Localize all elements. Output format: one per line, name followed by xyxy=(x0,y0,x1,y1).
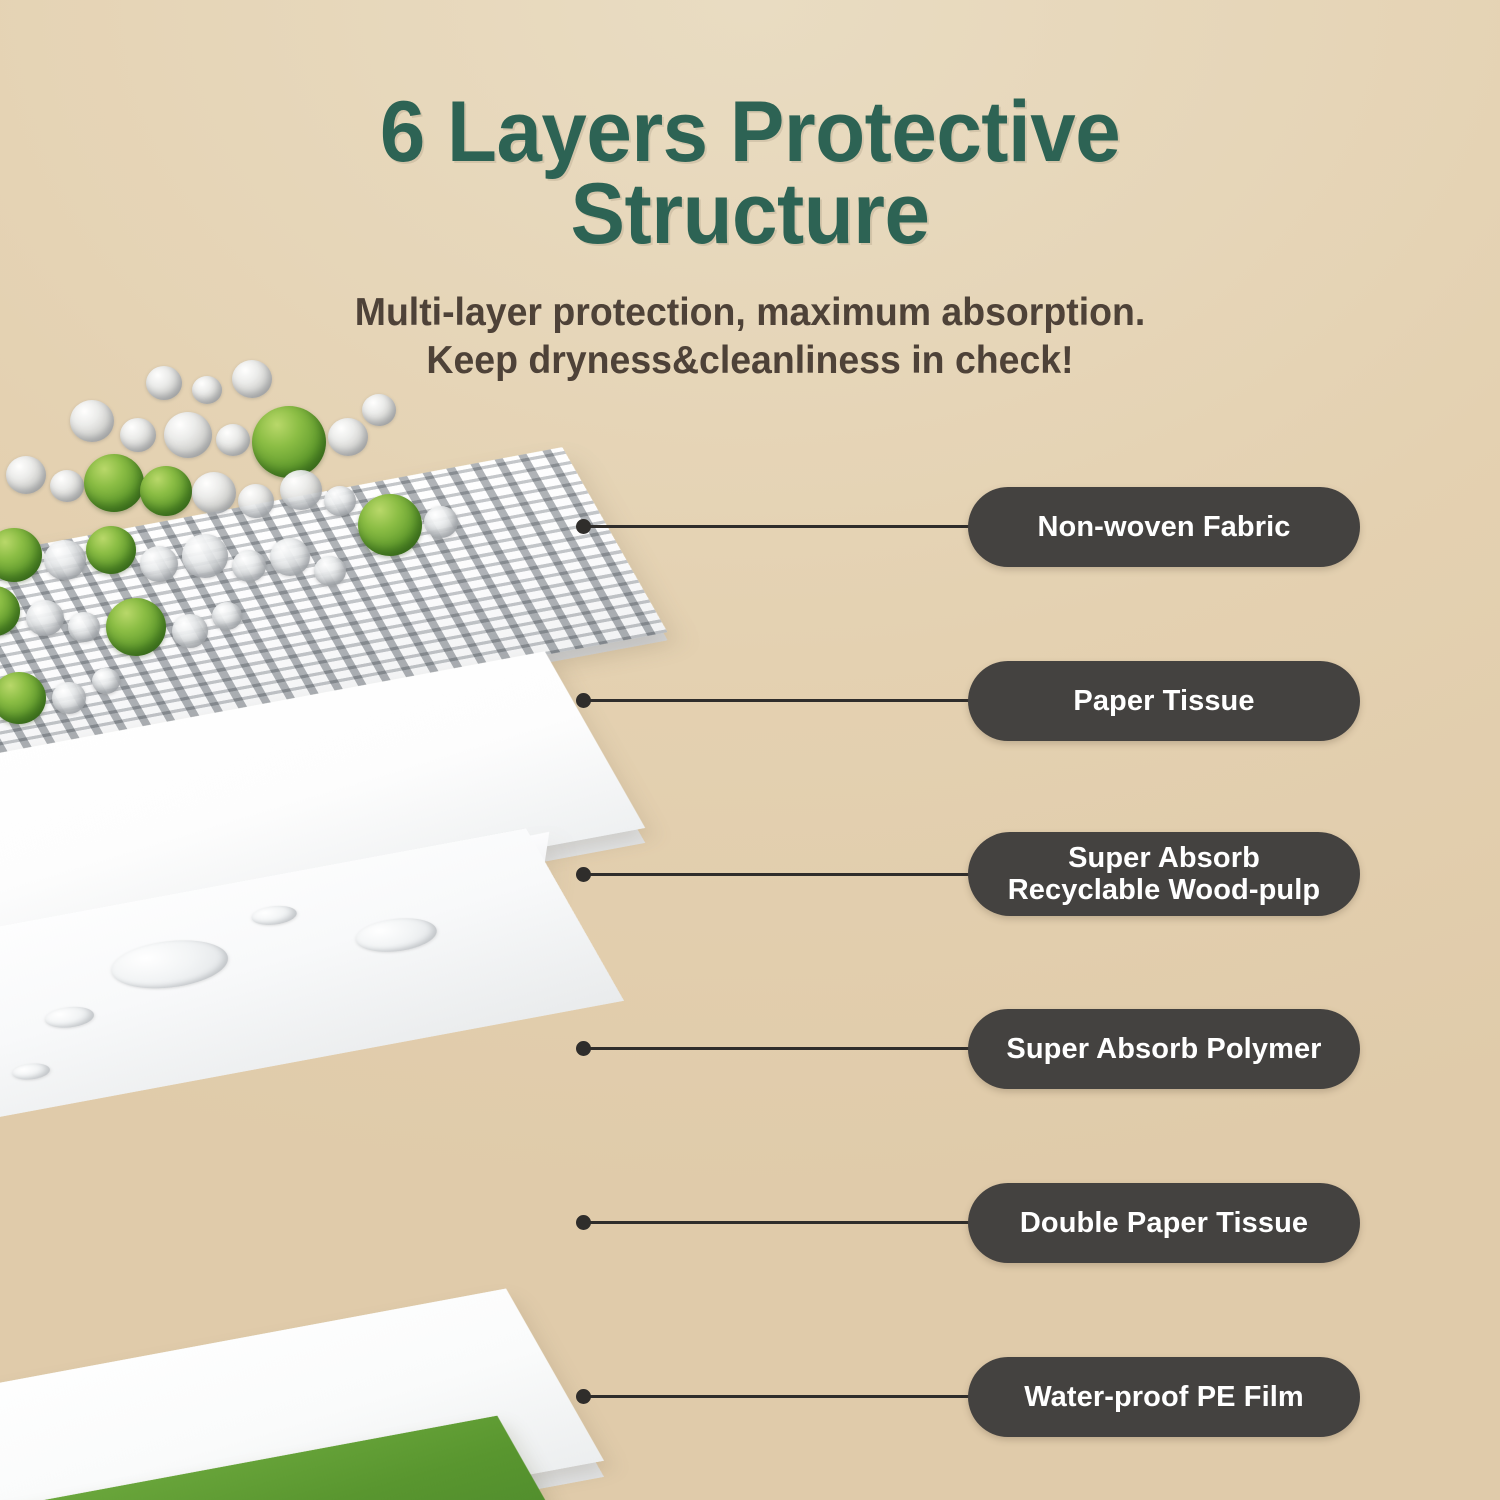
polymer-bead xyxy=(328,418,368,456)
callout-super-absorb-polymer[interactable]: Super Absorb Polymer xyxy=(968,1009,1360,1089)
callout-water-proof-pe-film[interactable]: Water-proof PE Film xyxy=(968,1357,1360,1437)
polymer-bead xyxy=(270,538,310,576)
polymer-bead xyxy=(192,472,236,514)
polymer-bead-green xyxy=(252,406,326,478)
callout-label-paper-tissue: Paper Tissue xyxy=(1073,685,1254,717)
polymer-bead xyxy=(280,470,322,510)
callout-paper-tissue[interactable]: Paper Tissue xyxy=(968,661,1360,741)
polymer-bead-green xyxy=(140,466,192,516)
polymer-bead-green xyxy=(358,494,422,556)
subtitle-line-2: Keep dryness&cleanliness in check! xyxy=(30,337,1470,385)
water-droplet xyxy=(40,1003,99,1031)
callout-label-super-absorb-polymer: Super Absorb Polymer xyxy=(1006,1033,1321,1065)
water-droplet xyxy=(247,903,301,928)
polymer-bead xyxy=(172,614,208,648)
layer-stack-illustration xyxy=(0,360,890,1500)
page-title: 6 Layers Protective Structure xyxy=(275,92,1225,255)
water-droplet xyxy=(100,932,239,996)
polymer-bead xyxy=(120,418,156,452)
polymer-bead xyxy=(50,470,84,502)
leader-dot-water-proof-pe-film xyxy=(576,1389,591,1404)
polymer-bead xyxy=(216,424,250,456)
callout-non-woven-fabric[interactable]: Non-woven Fabric xyxy=(968,487,1360,567)
callout-label-wood-pulp-line-1: Super Absorb xyxy=(1068,842,1260,874)
callout-wood-pulp[interactable]: Super Absorb Recyclable Wood-pulp xyxy=(968,832,1360,916)
polymer-bead xyxy=(70,400,114,442)
leader-dot-double-paper-tissue xyxy=(576,1215,591,1230)
polymer-bead xyxy=(52,682,86,714)
polymer-bead xyxy=(238,484,274,518)
callout-label-double-paper-tissue: Double Paper Tissue xyxy=(1020,1207,1308,1239)
polymer-bead-green xyxy=(84,454,144,512)
leader-dot-super-absorb-polymer xyxy=(576,1041,591,1056)
polymer-bead xyxy=(362,394,396,426)
polymer-bead xyxy=(92,668,120,694)
subtitle-line-1: Multi-layer protection, maximum absorpti… xyxy=(30,289,1470,337)
callout-label-wood-pulp-line-2: Recyclable Wood-pulp xyxy=(1008,874,1320,906)
polymer-bead xyxy=(212,602,242,630)
title-line-2: Structure xyxy=(571,166,930,262)
water-droplet xyxy=(348,913,444,958)
leader-dot-non-woven-fabric xyxy=(576,519,591,534)
polymer-bead-green xyxy=(86,526,136,574)
polymer-bead xyxy=(424,506,458,538)
leader-line-super-absorb-polymer xyxy=(583,1047,978,1050)
polymer-bead xyxy=(140,546,178,582)
leader-line-double-paper-tissue xyxy=(583,1221,978,1224)
callout-double-paper-tissue[interactable]: Double Paper Tissue xyxy=(968,1183,1360,1263)
polymer-bead xyxy=(324,486,356,516)
subtitle: Multi-layer protection, maximum absorpti… xyxy=(30,289,1470,384)
leader-line-wood-pulp xyxy=(583,873,978,876)
polymer-bead-green xyxy=(106,598,166,656)
water-droplet xyxy=(9,1061,54,1082)
callout-label-water-proof-pe-film: Water-proof PE Film xyxy=(1024,1381,1304,1413)
leader-dot-wood-pulp xyxy=(576,867,591,882)
leader-line-water-proof-pe-film xyxy=(583,1395,978,1398)
callout-label-non-woven-fabric: Non-woven Fabric xyxy=(1038,511,1291,543)
leader-dot-paper-tissue xyxy=(576,693,591,708)
polymer-bead xyxy=(232,550,266,582)
infographic-canvas: 6 Layers Protective Structure Multi-laye… xyxy=(0,0,1500,1500)
polymer-bead xyxy=(314,556,346,586)
polymer-bead xyxy=(68,612,100,642)
header: 6 Layers Protective Structure Multi-laye… xyxy=(0,92,1500,385)
polymer-bead xyxy=(182,534,228,578)
polymer-bead xyxy=(26,600,64,636)
leader-line-paper-tissue xyxy=(583,699,978,702)
leader-line-non-woven-fabric xyxy=(583,525,978,528)
polymer-bead xyxy=(44,540,86,580)
polymer-bead xyxy=(164,412,212,458)
polymer-bead xyxy=(6,456,46,494)
